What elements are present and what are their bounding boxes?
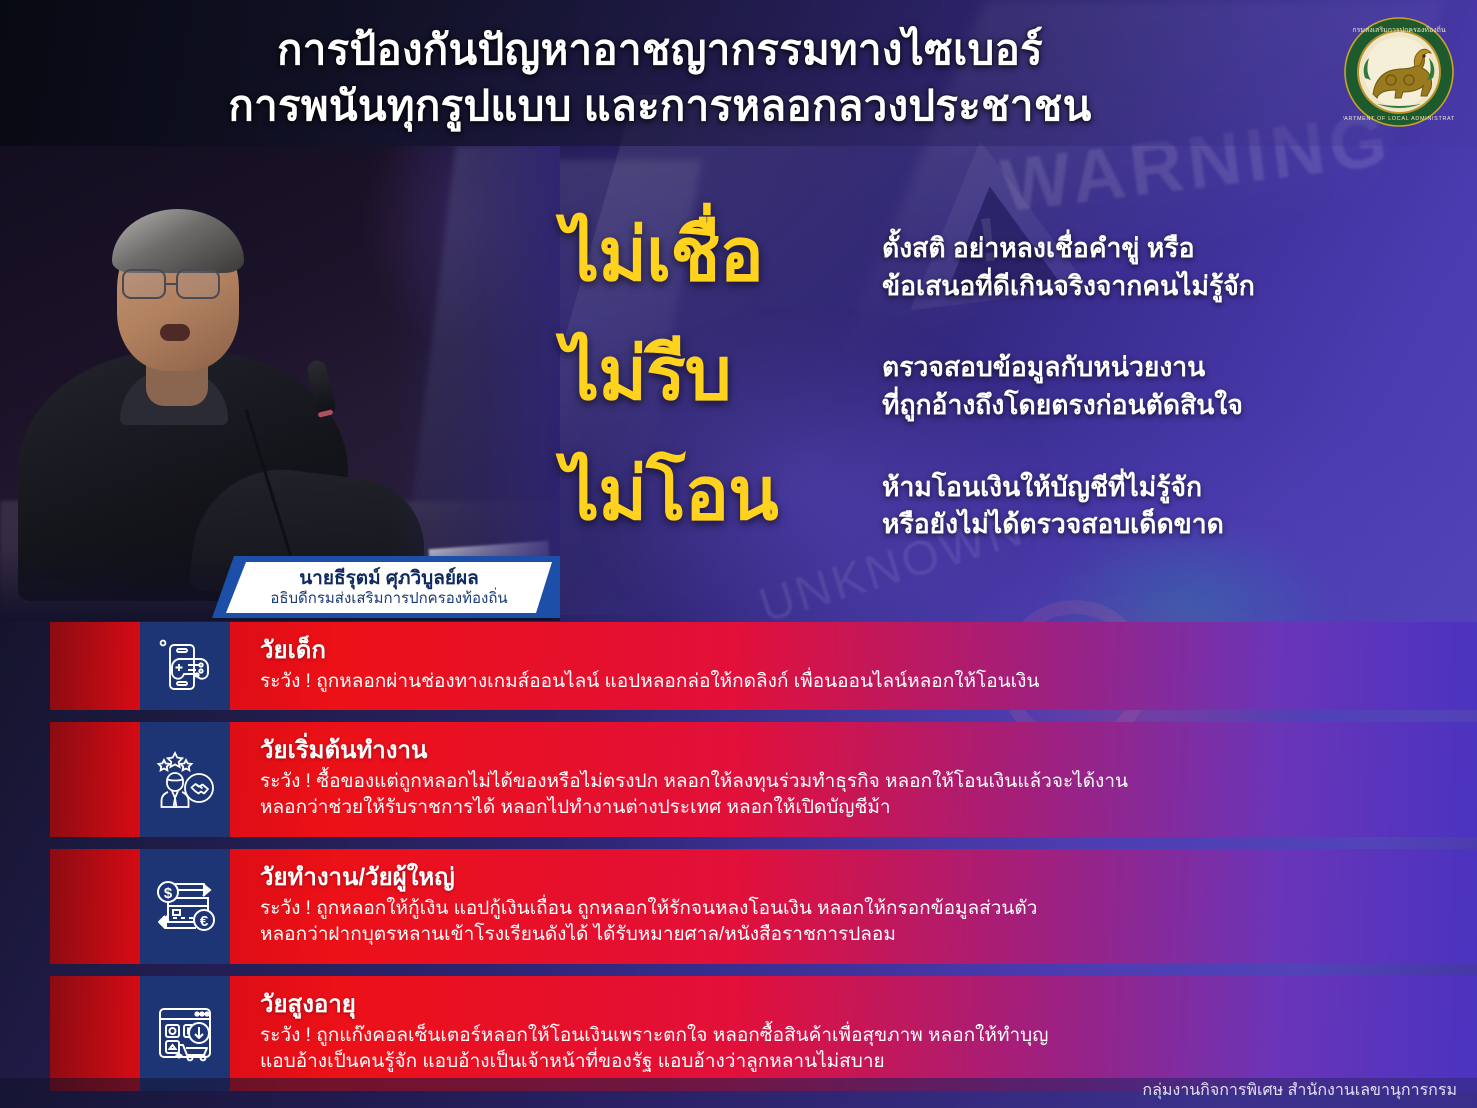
age-group-title: วัยทำงาน/วัยผู้ใหญ่ bbox=[260, 864, 1463, 893]
age-group-row: วัยเด็ก ระวัง ! ถูกหลอกผ่านช่องทางเกมส์อ… bbox=[50, 622, 1477, 710]
title-line-1: การป้องกันปัญหาอาชญากรรมทางไซเบอร์ bbox=[0, 22, 1320, 78]
slogan-keyword: ไม่เชื่อ bbox=[562, 212, 882, 292]
photo-glasses-left-lens bbox=[122, 269, 166, 299]
slogan-description: ตรวจสอบข้อมูลกับหน่วยงาน ที่ถูกอ้างถึงโด… bbox=[882, 331, 1422, 424]
svg-text:$: $ bbox=[164, 885, 173, 902]
age-group-body: วัยเริ่มต้นทำงาน ระวัง ! ซื้อของแต่ถูกหล… bbox=[230, 722, 1477, 837]
slogan-desc-line: หรือยังไม่ได้ตรวจสอบเด็ดขาด bbox=[882, 506, 1422, 544]
age-group-line: ระวัง ! ถูกหลอกให้กู้เงิน แอปกู้เงินเถื่… bbox=[260, 896, 1463, 922]
slogan-item: ไม่เชื่อ ตั้งสติ อย่าหลงเชื่อคำขู่ หรือ … bbox=[562, 212, 1422, 305]
slogan-desc-line: ตรวจสอบข้อมูลกับหน่วยงาน bbox=[882, 349, 1422, 387]
seal-thai-text: กรมส่งเสริมการปกครองท้องถิ่น bbox=[1352, 25, 1445, 34]
age-group-title: วัยเด็ก bbox=[260, 637, 1463, 666]
speaker-role: อธิบดีกรมส่งเสริมการปกครองท้องถิ่น bbox=[270, 590, 507, 608]
age-group-line: แอบอ้างเป็นคนรู้จัก แอบอ้างเป็นเจ้าหน้าท… bbox=[260, 1049, 1463, 1075]
header-band: การป้องกันปัญหาอาชญากรรมทางไซเบอร์ การพน… bbox=[0, 0, 1477, 146]
age-group-line: หลอกว่าฝากบุตรหลานเข้าโรงเรียนดังได้ ได้… bbox=[260, 922, 1463, 948]
businessman-stars-handshake-icon bbox=[140, 722, 230, 837]
slogan-desc-line: ข้อเสนอที่ดีเกินจริงจากคนไม่รู้จัก bbox=[882, 268, 1422, 306]
slogan-keyword: ไม่รีบ bbox=[562, 331, 882, 411]
slogan-item: ไม่โอน ห้ามโอนเงินให้บัญชีที่ไม่รู้จัก ห… bbox=[562, 451, 1422, 544]
mobile-game-controller-icon bbox=[140, 622, 230, 710]
photo-glasses-right-lens bbox=[176, 269, 220, 299]
photo-glasses-bridge bbox=[166, 283, 178, 286]
speaker-nameplate: นายธีรุตม์ ศุภวิบูลย์ผล อธิบดีกรมส่งเสริ… bbox=[212, 556, 560, 618]
age-group-body: วัยสูงอายุ ระวัง ! ถูกแก๊งคอลเซ็นเตอร์หล… bbox=[230, 976, 1477, 1091]
slogan-desc-line: ห้ามโอนเงินให้บัญชีที่ไม่รู้จัก bbox=[882, 469, 1422, 507]
age-group-line: หลอกว่าช่วยให้รับราชการได้ หลอกไปทำงานต่… bbox=[260, 795, 1463, 821]
slogan-description: ตั้งสติ อย่าหลงเชื่อคำขู่ หรือ ข้อเสนอที… bbox=[882, 212, 1422, 305]
currency-exchange-transfer-icon: $ € bbox=[140, 849, 230, 964]
poster-root: ! WARNING UNKNOWN Calling การป้องกันปัญห… bbox=[0, 0, 1477, 1108]
slogan-description: ห้ามโอนเงินให้บัญชีที่ไม่รู้จัก หรือยังไ… bbox=[882, 451, 1422, 544]
age-group-line: ระวัง ! ซื้อของแต่ถูกหลอกไม่ได้ของหรือไม… bbox=[260, 769, 1463, 795]
footer-bar: กลุ่มงานกิจการพิเศษ สำนักงานเลขานุการกรม bbox=[0, 1078, 1477, 1108]
slogan-list: ไม่เชื่อ ตั้งสติ อย่าหลงเชื่อคำขู่ หรือ … bbox=[562, 212, 1422, 544]
age-group-title: วัยสูงอายุ bbox=[260, 991, 1463, 1020]
dla-seal-logo: กรมส่งเสริมการปกครองท้องถิ่น DEPARTMENT … bbox=[1343, 16, 1455, 128]
age-group-line: ระวัง ! ถูกแก๊งคอลเซ็นเตอร์หลอกให้โอนเงิ… bbox=[260, 1023, 1463, 1049]
age-group-title: วัยเริ่มต้นทำงาน bbox=[260, 737, 1463, 766]
age-group-row: วัยสูงอายุ ระวัง ! ถูกแก๊งคอลเซ็นเตอร์หล… bbox=[50, 976, 1477, 1091]
age-group-body: วัยเด็ก ระวัง ! ถูกหลอกผ่านช่องทางเกมส์อ… bbox=[230, 622, 1477, 710]
age-group-body: วัยทำงาน/วัยผู้ใหญ่ ระวัง ! ถูกหลอกให้กู… bbox=[230, 849, 1477, 964]
age-group-row: $ € วัยทำงาน/วัยผู้ใหญ่ ระวัง ! ถูกหลอกใ… bbox=[50, 849, 1477, 964]
slogan-keyword: ไม่โอน bbox=[562, 451, 882, 531]
slogan-item: ไม่รีบ ตรวจสอบข้อมูลกับหน่วยงาน ที่ถูกอ้… bbox=[562, 331, 1422, 424]
page-title: การป้องกันปัญหาอาชญากรรมทางไซเบอร์ การพน… bbox=[0, 22, 1320, 134]
slogan-desc-line: ตั้งสติ อย่าหลงเชื่อคำขู่ หรือ bbox=[882, 230, 1422, 268]
seal-english-text: DEPARTMENT OF LOCAL ADMINISTRATION bbox=[1343, 116, 1455, 122]
speaker-photo bbox=[0, 146, 560, 621]
photo-mouth bbox=[160, 324, 190, 341]
age-group-line: ระวัง ! ถูกหลอกผ่านช่องทางเกมส์ออนไลน์ แ… bbox=[260, 669, 1463, 695]
speaker-name: นายธีรุตม์ ศุภวิบูลย์ผล bbox=[299, 568, 479, 590]
svg-text:€: € bbox=[200, 913, 209, 930]
photo-right-fade bbox=[390, 146, 560, 621]
nameplate-white-panel: นายธีรุตม์ ศุภวิบูลย์ผล อธิบดีกรมส่งเสริ… bbox=[226, 562, 552, 613]
age-group-list: วัยเด็ก ระวัง ! ถูกหลอกผ่านช่องทางเกมส์อ… bbox=[50, 622, 1477, 1103]
title-line-2: การพนันทุกรูปแบบ และการหลอกลวงประชาชน bbox=[0, 78, 1320, 134]
footer-credit: กลุ่มงานกิจการพิเศษ สำนักงานเลขานุการกรม bbox=[1142, 1078, 1457, 1103]
age-group-row: วัยเริ่มต้นทำงาน ระวัง ! ซื้อของแต่ถูกหล… bbox=[50, 722, 1477, 837]
online-shopping-cart-browser-icon bbox=[140, 976, 230, 1091]
slogan-desc-line: ที่ถูกอ้างถึงโดยตรงก่อนตัดสินใจ bbox=[882, 387, 1422, 425]
